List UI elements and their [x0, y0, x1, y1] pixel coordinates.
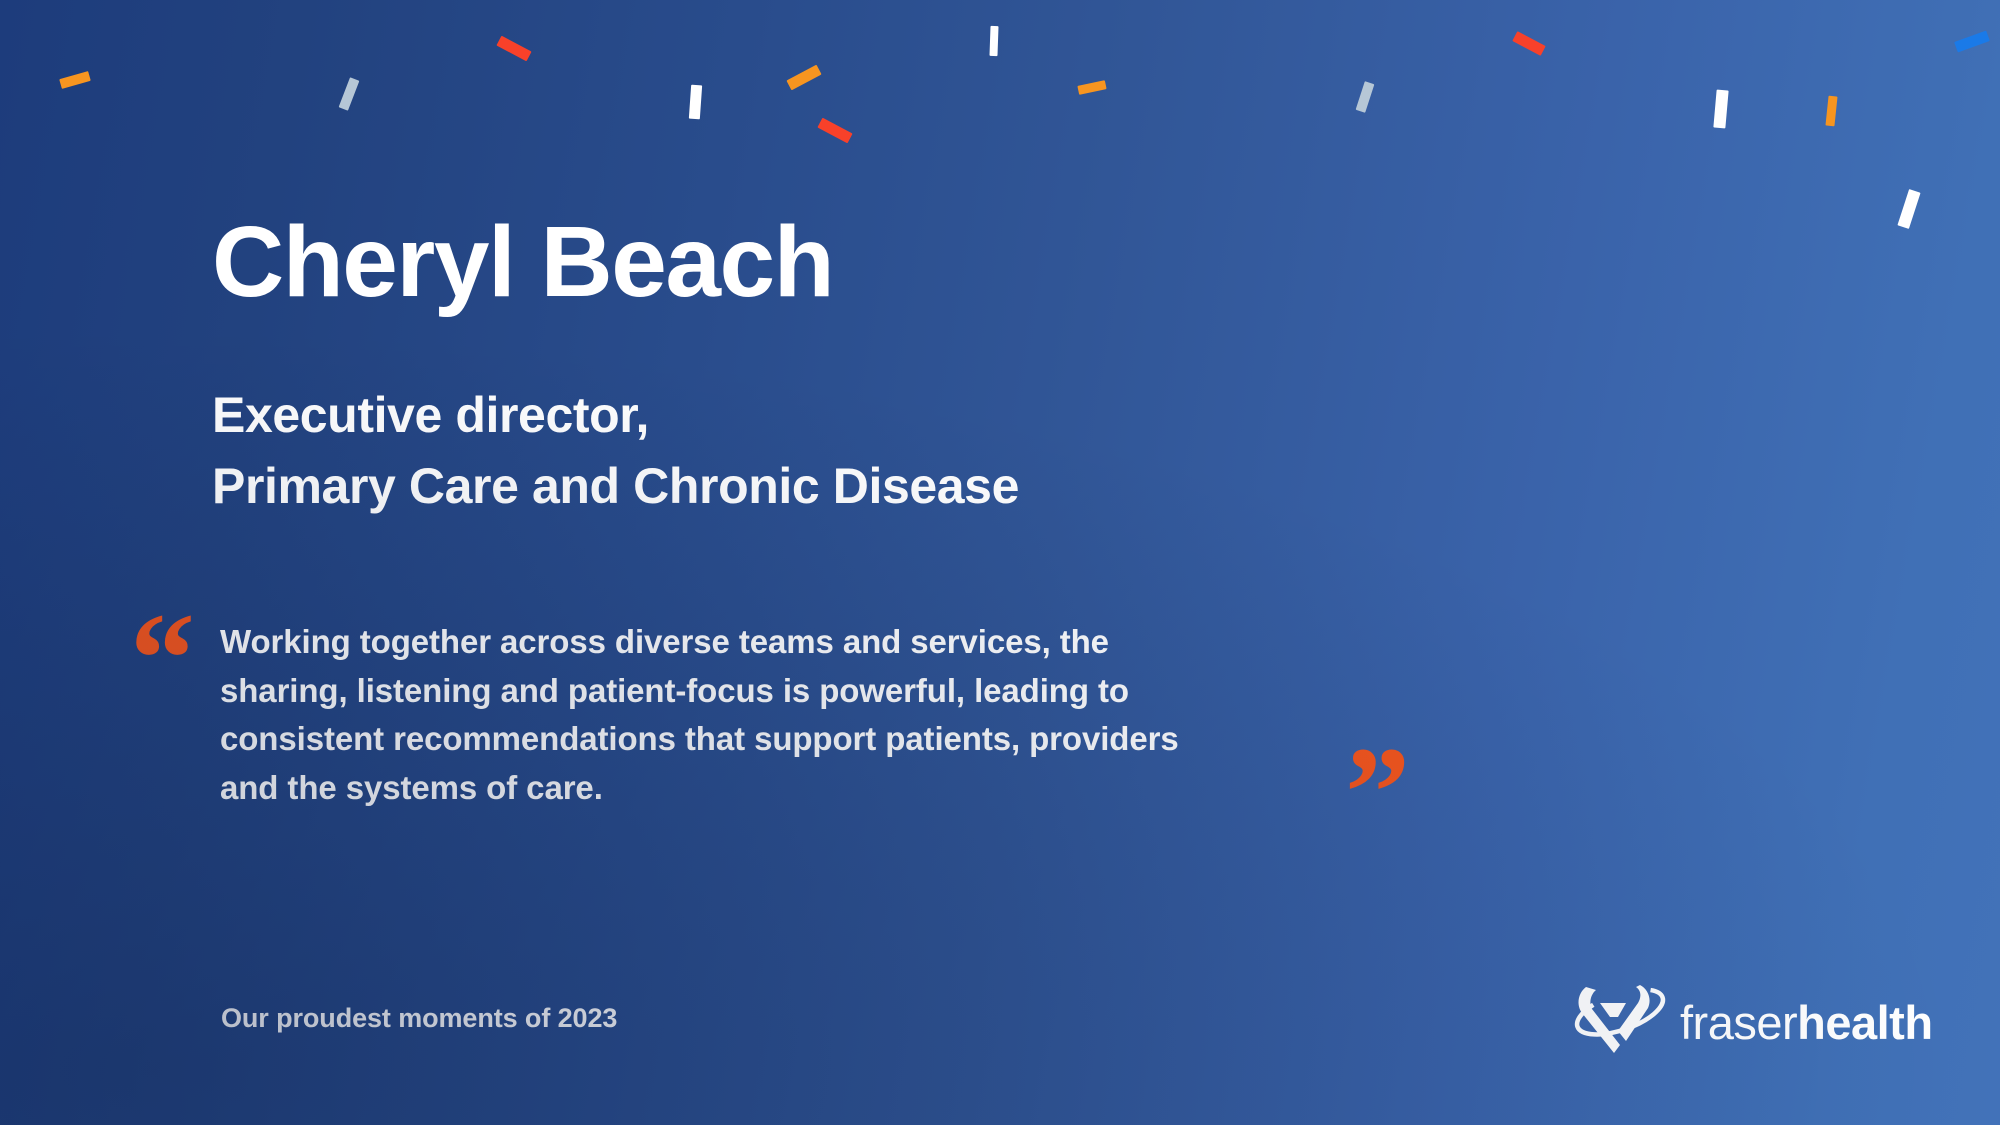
quote-line-2: sharing, listening and patient-focus is …: [220, 667, 1370, 716]
presentation-slide: Cheryl Beach Executive director, Primary…: [0, 0, 2000, 1125]
footer-tagline: Our proudest moments of 2023: [221, 1003, 617, 1034]
person-role-subheading: Executive director, Primary Care and Chr…: [212, 380, 1019, 522]
quote-line-1: Working together across diverse teams an…: [220, 618, 1370, 667]
slide-content: Cheryl Beach Executive director, Primary…: [0, 0, 2000, 1125]
wordmark-fraser: fraser: [1680, 996, 1797, 1049]
fraser-health-wordmark: fraserhealth: [1680, 999, 1933, 1046]
close-quote-icon: ”: [1345, 728, 1410, 858]
quote-line-4: and the systems of care.: [220, 764, 1370, 813]
open-quote-icon: “: [130, 594, 195, 724]
quote-text: Working together across diverse teams an…: [220, 618, 1370, 812]
person-name-heading: Cheryl Beach: [212, 212, 833, 312]
fraser-health-heart-swoosh-icon: [1570, 979, 1666, 1061]
wordmark-health: health: [1797, 996, 1932, 1049]
person-role-line-1: Executive director,: [212, 380, 1019, 451]
person-role-line-2: Primary Care and Chronic Disease: [212, 451, 1019, 522]
fraser-health-logo: fraserhealth: [1570, 975, 1930, 1065]
quote-line-3: consistent recommendations that support …: [220, 715, 1370, 764]
